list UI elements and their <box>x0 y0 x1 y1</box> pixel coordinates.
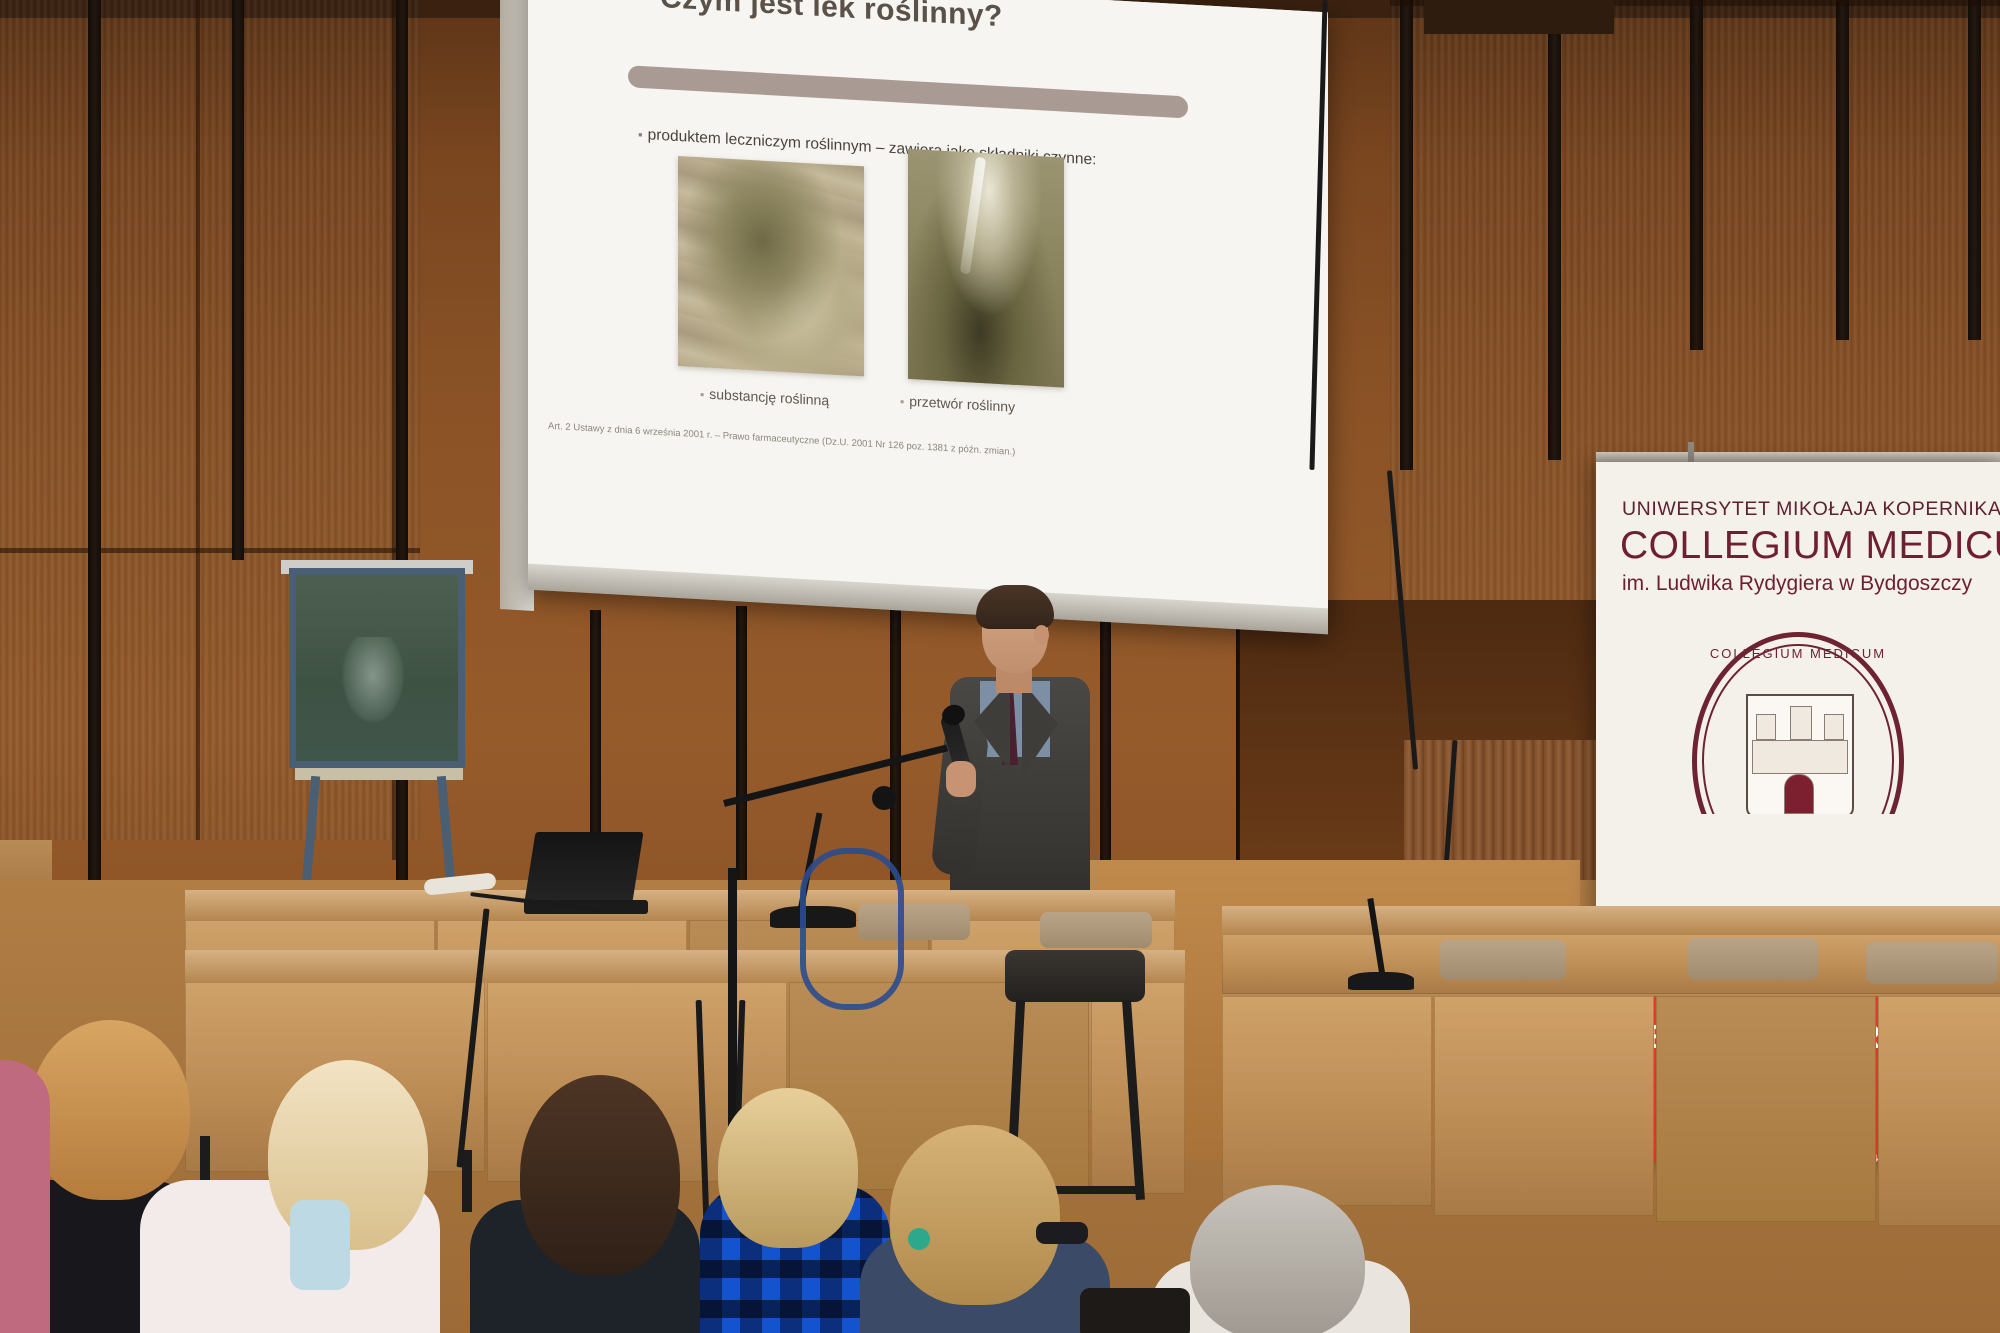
chalkboard-emblem <box>342 637 404 723</box>
wall-batten <box>232 0 244 560</box>
desk-front-panel <box>1878 996 2000 1226</box>
boom-mic-capsule-icon <box>872 786 896 810</box>
desk-front-panel <box>1434 996 1654 1216</box>
castle-wall <box>1752 740 1848 774</box>
wall-batten <box>1548 0 1561 460</box>
caption-marker-icon: ▪ <box>900 394 904 408</box>
chair-backrest <box>1866 942 1998 984</box>
audience-member-head <box>520 1075 680 1275</box>
speaker-presenter <box>930 585 1110 905</box>
seal-castle-shield <box>1746 694 1854 818</box>
chair-backrest <box>1040 912 1152 948</box>
chair-backrest <box>1440 940 1566 980</box>
wall-batten <box>1968 0 1981 340</box>
audience-member-head <box>1190 1185 1365 1333</box>
speaker-ear <box>1034 625 1049 645</box>
speaker-hand <box>946 761 976 797</box>
caption-marker-icon: ▪ <box>700 387 704 401</box>
slide-image-tincture-dropper <box>908 149 1064 388</box>
castle-tower <box>1790 706 1812 740</box>
slide-caption-left: ▪substancję roślinną <box>700 385 829 408</box>
banner-patron-line: im. Ludwika Rydygiera w Bydgoszczy <box>1622 572 1972 596</box>
slide-image-herbal-powder <box>678 156 864 376</box>
banner-pole <box>1688 442 1694 464</box>
laptop-screen <box>524 832 643 902</box>
desk-mic-base <box>1348 972 1414 990</box>
wall-batten <box>1400 0 1413 470</box>
audience-member-sunglasses-icon <box>1036 1222 1088 1244</box>
castle-tower <box>1756 714 1776 740</box>
chair-seat <box>1005 950 1145 1002</box>
castle-tower <box>1824 714 1844 740</box>
desk-top-surface <box>1222 906 2000 934</box>
wall-batten <box>1690 0 1703 350</box>
slide-footnote: Art. 2 Ustawy z dnia 6 września 2001 r. … <box>548 421 1015 458</box>
slide-caption-left-text: substancję roślinną <box>709 386 829 409</box>
slide-caption-right: ▪przetwór roślinny <box>900 392 1015 414</box>
chair-leg <box>1122 1000 1145 1200</box>
blue-coiled-cable <box>800 848 904 1010</box>
desk-top-surface <box>185 890 1175 920</box>
wall-batten <box>890 604 901 904</box>
speaker-hair <box>976 585 1054 629</box>
slide-title: Czym jest lek roślinny? <box>660 0 1003 34</box>
audience-member-bag <box>1080 1288 1190 1333</box>
bullet-marker-icon: ▪ <box>638 127 643 142</box>
audience-member-head <box>718 1088 858 1248</box>
wall-seam <box>0 548 420 553</box>
audience-member-scarf <box>290 1200 350 1290</box>
wall-panel-upper-right <box>1424 0 1614 34</box>
slide-caption-right-text: przetwór roślinny <box>909 393 1015 415</box>
chalkboard-surface <box>289 568 465 768</box>
audience-member-head <box>30 1020 190 1200</box>
audience-member-hair-tie <box>908 1228 930 1250</box>
audience-member-shoulder <box>0 1060 50 1333</box>
audience-member-head <box>890 1125 1060 1305</box>
wall-batten <box>736 606 747 906</box>
desk-front-panel <box>1222 996 1432 1206</box>
chalkboard-easel <box>281 560 481 800</box>
desk-front-panel <box>1656 996 1876 1222</box>
wall-seam <box>196 0 200 840</box>
wall-batten <box>88 0 101 900</box>
wall-batten <box>1836 0 1849 340</box>
banner-university-line: UNIWERSYTET MIKOŁAJA KOPERNIKA <box>1622 498 2000 521</box>
lecture-desk-right <box>1222 962 2000 1222</box>
presentation-slide: Czym jest lek roślinny? ▪produktem leczn… <box>528 0 1328 612</box>
banner-collegium-line: COLLEGIUM MEDICUM <box>1620 524 2000 568</box>
lecture-hall-photo: Czym jest lek roślinny? ▪produktem leczn… <box>0 0 2000 1333</box>
desk-leg <box>462 1150 472 1212</box>
chair-backrest <box>1688 938 1818 980</box>
slide-accent-bar <box>628 65 1188 118</box>
projection-screen: Czym jest lek roślinny? ▪produktem leczn… <box>528 0 1328 632</box>
seal-ring-text: COLLEGIUM MEDICUM <box>1692 646 1904 661</box>
castle-gate <box>1784 774 1814 814</box>
